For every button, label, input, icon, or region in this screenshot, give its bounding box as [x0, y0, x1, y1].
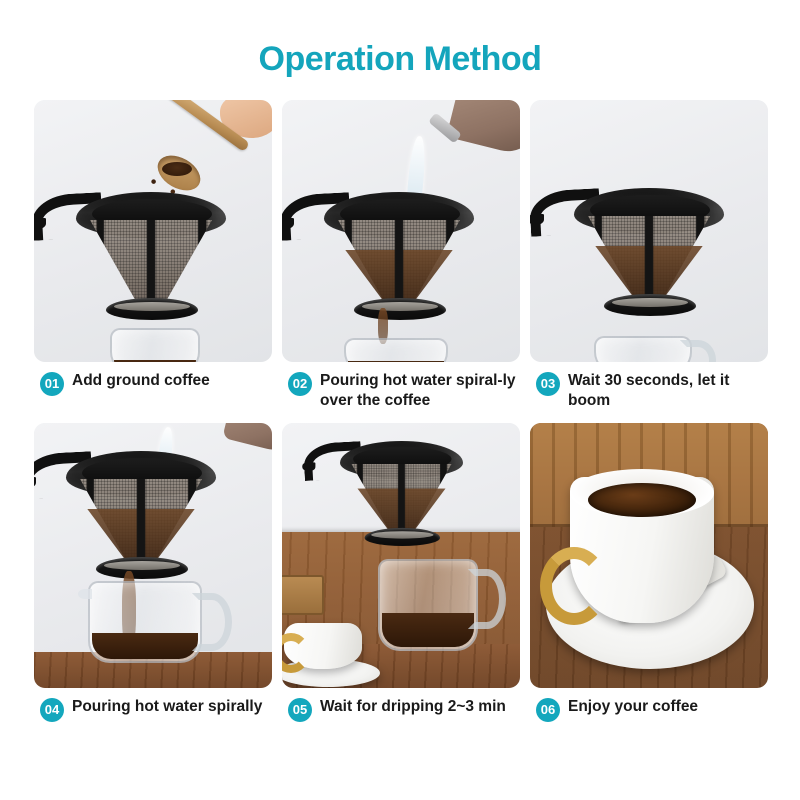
carafe-coffee: [114, 360, 196, 362]
step-photo-05: [282, 423, 520, 688]
step-caption-03: 03 Wait 30 seconds, let it boom: [530, 371, 768, 411]
glass-carafe: [594, 336, 692, 362]
wooden-crate: [282, 575, 324, 615]
carafe-spout: [78, 589, 92, 599]
dripper-holder-ring: [371, 531, 433, 538]
step-photo-06: [530, 423, 768, 688]
step-card-05: 05 Wait for dripping 2~3 min: [282, 423, 520, 722]
coffee-in-cup: [588, 483, 696, 517]
grounds-on-spoon: [162, 162, 192, 176]
steps-grid: 01 Add ground coffee: [34, 100, 768, 722]
step-caption-04: 04 Pouring hot water spirally: [34, 697, 272, 722]
step-photo-01: [34, 100, 272, 362]
step-caption-01: 01 Add ground coffee: [34, 371, 272, 396]
dripper-holder-ring: [612, 298, 688, 307]
step-card-04: 04 Pouring hot water spirally: [34, 423, 272, 722]
dripper-holder-ring: [362, 302, 438, 311]
carafe-coffee: [382, 613, 474, 647]
glass-carafe: [378, 559, 478, 651]
gold-cup-handle: [540, 547, 608, 625]
step-badge-05: 05: [288, 698, 312, 722]
dripper-spout-tip: [302, 462, 315, 471]
carafe-handle: [468, 569, 506, 629]
step-caption-05: 05 Wait for dripping 2~3 min: [282, 697, 520, 722]
step-photo-04: [34, 423, 272, 688]
step-badge-03: 03: [536, 372, 560, 396]
step-card-03: 03 Wait 30 seconds, let it boom: [530, 100, 768, 411]
step-photo-03: [530, 100, 768, 362]
step-card-02: 02 Pouring hot water spiral-ly over the …: [282, 100, 520, 411]
step-caption-text-06: Enjoy your coffee: [568, 697, 698, 717]
carafe-coffee: [92, 633, 198, 659]
step-caption-text-04: Pouring hot water spirally: [72, 697, 262, 717]
step-badge-02: 02: [288, 372, 312, 396]
step-badge-06: 06: [536, 698, 560, 722]
step-caption-text-02: Pouring hot water spiral-ly over the cof…: [320, 371, 518, 411]
step-caption-02: 02 Pouring hot water spiral-ly over the …: [282, 371, 520, 411]
step-caption-text-05: Wait for dripping 2~3 min: [320, 697, 506, 717]
glass-carafe: [344, 338, 448, 362]
carafe-handle: [192, 593, 232, 651]
step-badge-01: 01: [40, 372, 64, 396]
page-title: Operation Method: [0, 40, 800, 79]
carafe-coffee: [348, 361, 444, 362]
step-card-06: 06 Enjoy your coffee: [530, 423, 768, 722]
step-badge-04: 04: [40, 698, 64, 722]
step-caption-text-01: Add ground coffee: [72, 371, 210, 391]
step-caption-text-03: Wait 30 seconds, let it boom: [568, 371, 766, 411]
step-card-01: 01 Add ground coffee: [34, 100, 272, 411]
dripper-holder-ring: [104, 561, 180, 570]
step-photo-02: [282, 100, 520, 362]
glass-carafe: [88, 581, 202, 663]
dripper-holder-ring: [114, 302, 190, 311]
step-caption-06: 06 Enjoy your coffee: [530, 697, 768, 722]
glass-carafe: [110, 328, 200, 362]
infographic-page: Operation Method: [0, 0, 800, 800]
